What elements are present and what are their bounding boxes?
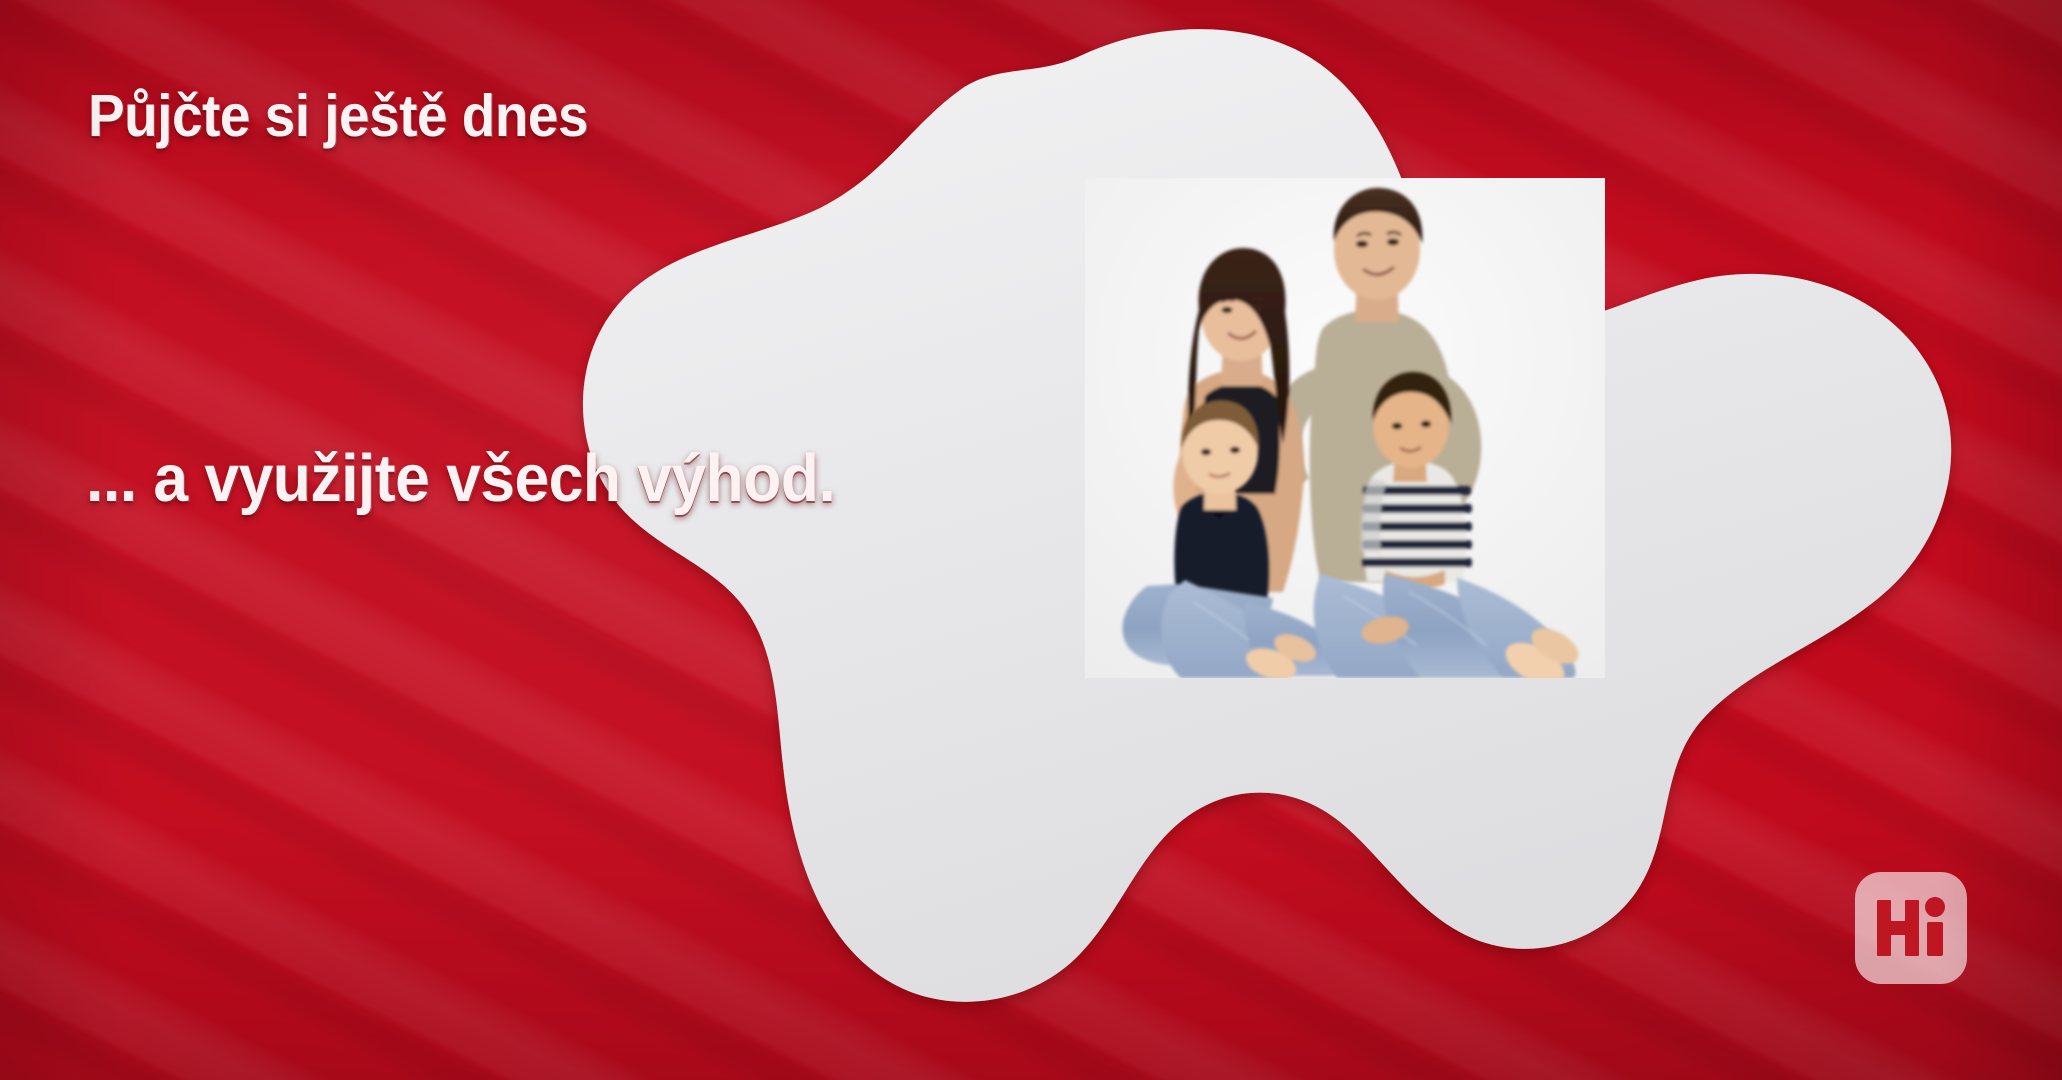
- headline-block: Půjčte si ještě dnes ... a využijte všec…: [0, 0, 1060, 1080]
- headline-line-2: ... a využijte všech výhod.: [86, 440, 835, 517]
- banner-ad: Půjčte si ještě dnes ... a využijte všec…: [0, 0, 2062, 1080]
- family-photo: [1085, 178, 1605, 678]
- hi-logo-watermark[interactable]: [1855, 872, 1967, 984]
- hi-logo-icon: [1855, 872, 1967, 984]
- headline-line-1: Půjčte si ještě dnes: [88, 82, 588, 150]
